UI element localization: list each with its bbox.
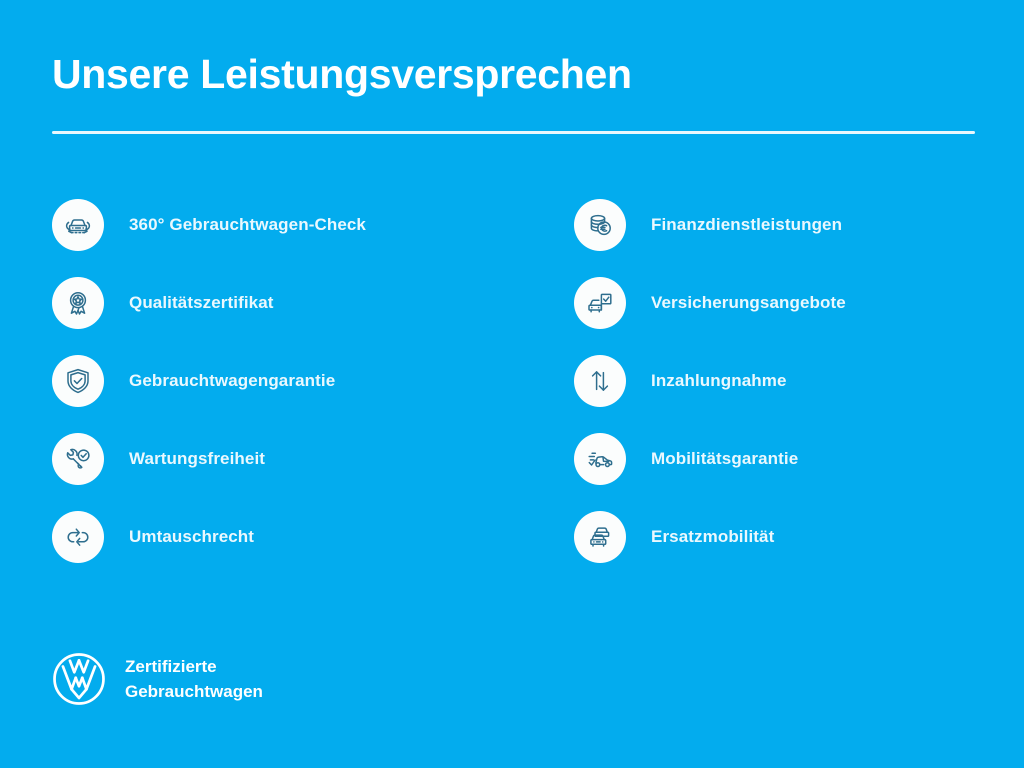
benefit-label: Finanzdienstleistungen <box>651 215 842 235</box>
benefit-item-exchange-right[interactable]: Umtauschrecht <box>52 511 522 563</box>
benefit-label: Mobilitätsgarantie <box>651 449 798 469</box>
benefit-label: Wartungsfreiheit <box>129 449 265 469</box>
shield-check-icon <box>52 355 104 407</box>
benefit-item-mobility-guarantee[interactable]: Mobilitätsgarantie <box>574 433 994 485</box>
title-divider <box>52 131 975 134</box>
benefit-label: 360° Gebrauchtwagen-Check <box>129 215 366 235</box>
benefit-item-maintenance-free[interactable]: Wartungsfreiheit <box>52 433 522 485</box>
wrench-check-icon <box>52 433 104 485</box>
car-360-check-icon <box>52 199 104 251</box>
benefit-label: Umtauschrecht <box>129 527 254 547</box>
benefit-label: Ersatzmobilität <box>651 527 774 547</box>
benefit-item-replacement-mobility[interactable]: Ersatzmobilität <box>574 511 994 563</box>
coins-euro-icon <box>574 199 626 251</box>
benefits-column-right: Finanzdienstleistungen <box>574 199 994 563</box>
car-motion-icon <box>574 433 626 485</box>
brand-text-line2: Gebrauchtwagen <box>125 682 263 701</box>
arrows-up-down-icon <box>574 355 626 407</box>
volkswagen-logo <box>50 650 108 708</box>
benefits-column-left: 360° Gebrauchtwagen-Check Qualitätszerti… <box>52 199 522 563</box>
exchange-arrows-icon <box>52 511 104 563</box>
car-document-check-icon <box>574 277 626 329</box>
benefit-label: Gebrauchtwagengarantie <box>129 371 335 391</box>
benefit-item-insurance-offers[interactable]: Versicherungsangebote <box>574 277 994 329</box>
brand-text-line1: Zertifizierte <box>125 657 217 676</box>
page-title: Unsere Leistungsversprechen <box>52 48 976 100</box>
benefit-item-trade-in[interactable]: Inzahlungnahme <box>574 355 994 407</box>
award-rosette-icon <box>52 277 104 329</box>
brand-text: Zertifizierte Gebrauchtwagen <box>125 654 263 704</box>
benefit-item-360-check[interactable]: 360° Gebrauchtwagen-Check <box>52 199 522 251</box>
promise-board: Unsere Leistungsversprechen <box>0 0 1024 768</box>
header: Unsere Leistungsversprechen <box>52 48 976 100</box>
brand-lockup: Zertifizierte Gebrauchtwagen <box>50 650 263 708</box>
benefit-item-warranty[interactable]: Gebrauchtwagengarantie <box>52 355 522 407</box>
benefit-label: Qualitätszertifikat <box>129 293 274 313</box>
benefit-item-financial-services[interactable]: Finanzdienstleistungen <box>574 199 994 251</box>
benefit-label: Versicherungsangebote <box>651 293 846 313</box>
two-cars-icon <box>574 511 626 563</box>
benefits-grid: 360° Gebrauchtwagen-Check Qualitätszerti… <box>0 199 1024 563</box>
benefit-label: Inzahlungnahme <box>651 371 787 391</box>
benefit-item-quality-certificate[interactable]: Qualitätszertifikat <box>52 277 522 329</box>
